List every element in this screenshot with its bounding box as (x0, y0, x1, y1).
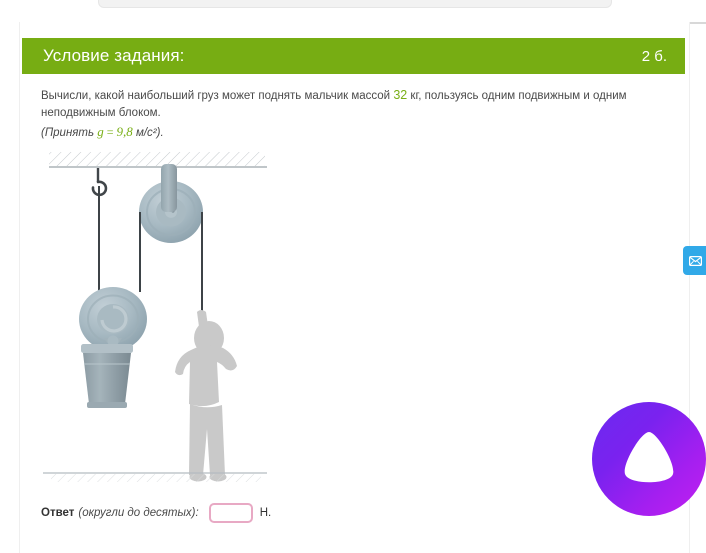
answer-label: Ответ (41, 507, 74, 519)
toolbar-chip (98, 0, 612, 8)
note-suffix: м/с²). (133, 127, 164, 139)
ceiling-hatching (49, 152, 267, 167)
boy-silhouette (175, 310, 237, 482)
note-prefix: (Принять (41, 127, 97, 139)
answer-input[interactable] (209, 503, 253, 523)
task-header: Условие задания: 2 б. (22, 38, 685, 74)
mass-value: 32 (393, 88, 407, 102)
answer-row: Ответ (округли до десятых): Н. (41, 503, 271, 523)
equals-sign: = (104, 125, 117, 139)
ground-hatching (43, 473, 267, 482)
feedback-mail-tab[interactable] (683, 246, 706, 275)
gravity-note: (Принять g = 9,8 м/с²). (41, 123, 666, 142)
task-header-title: Условие задания: (43, 46, 184, 66)
pulley-illustration (41, 152, 281, 482)
envelope-icon (689, 256, 702, 266)
gravity-value: 9,8 (117, 124, 133, 139)
fixed-pulley (139, 166, 203, 243)
assistant-button[interactable] (592, 402, 706, 516)
problem-statement: Вычисли, какой наибольший груз может под… (41, 87, 666, 142)
task-points-badge: 2 б. (642, 48, 667, 65)
movable-pulley (79, 287, 147, 351)
answer-unit: Н. (260, 507, 272, 519)
statement-part-1: Вычисли, какой наибольший груз может под… (41, 90, 393, 102)
answer-hint: (округли до десятых): (78, 507, 198, 519)
assistant-orb-icon (616, 426, 682, 492)
